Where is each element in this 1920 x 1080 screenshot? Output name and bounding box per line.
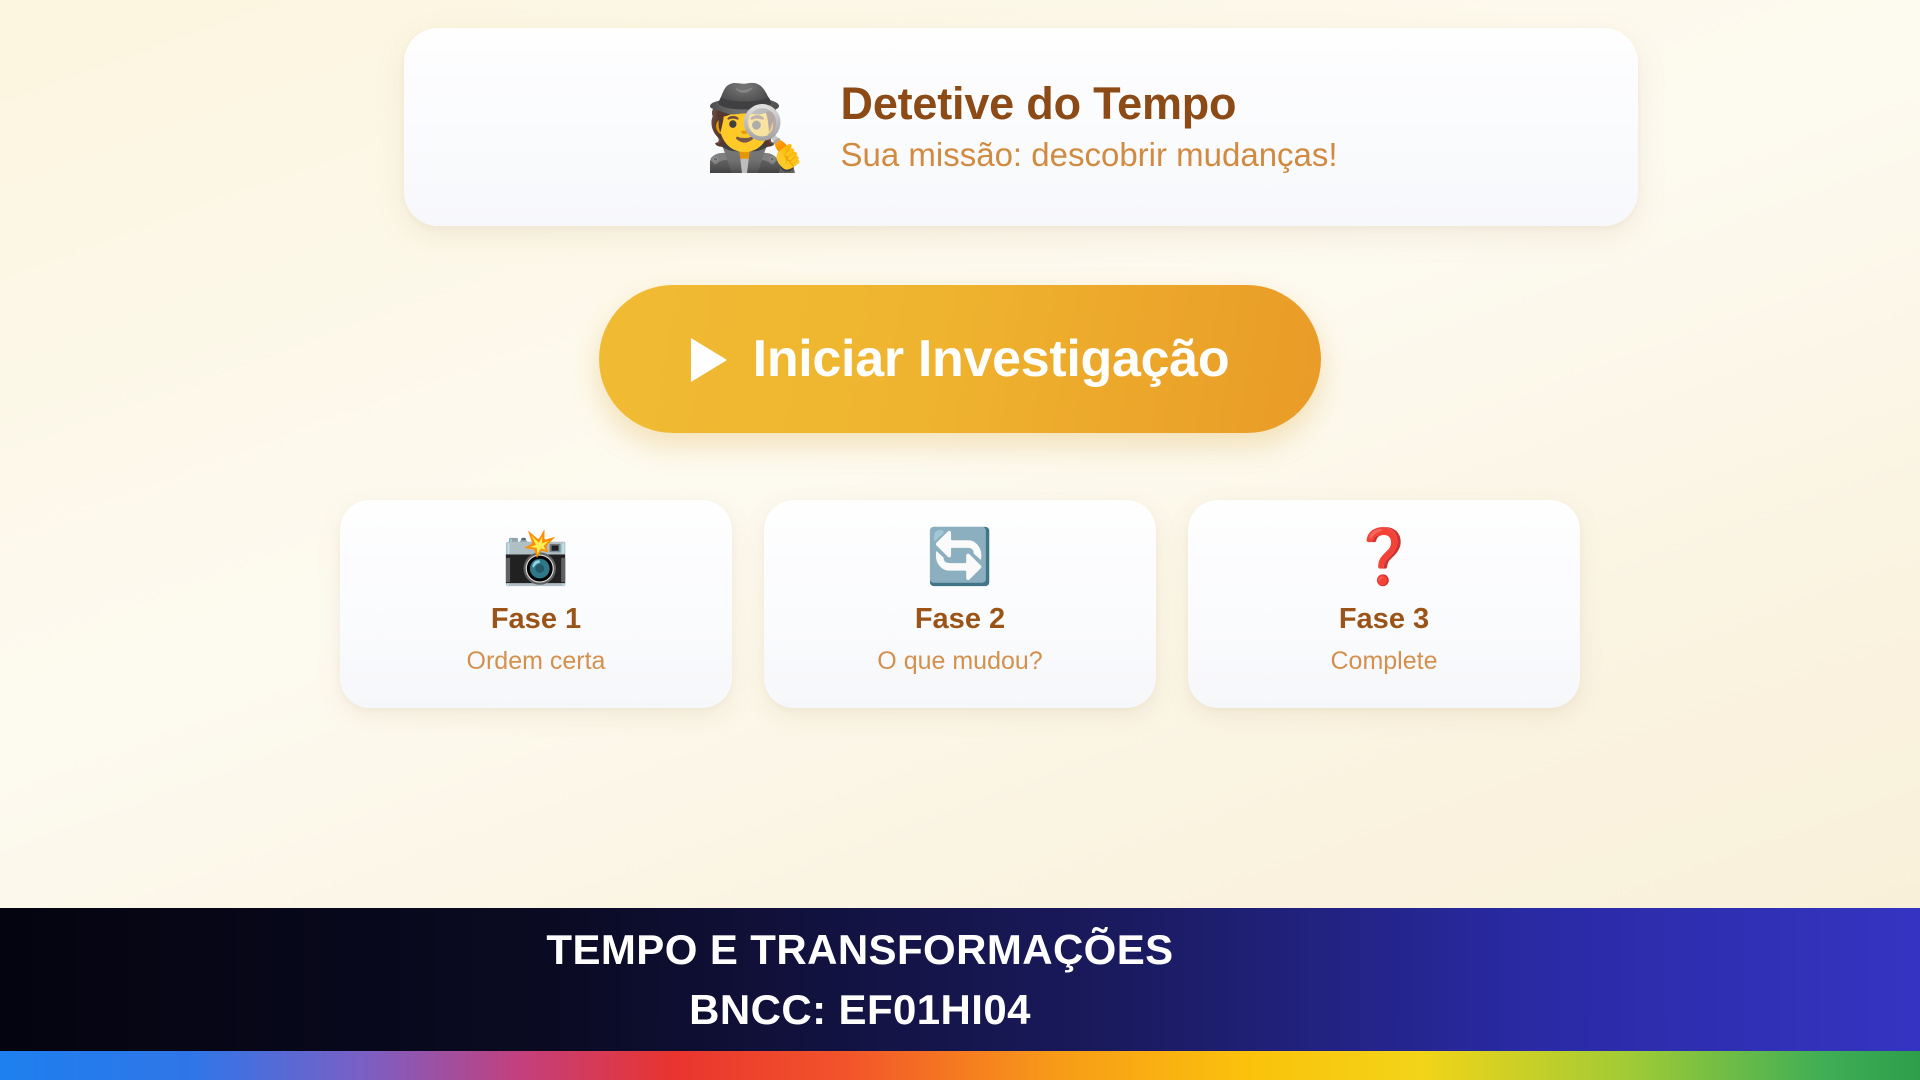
footer-theme-title: TEMPO E TRANSFORMAÇÕES [546, 920, 1173, 980]
phase-3-title: Fase 3 [1339, 602, 1429, 637]
footer-bncc-code: BNCC: EF01HI04 [689, 980, 1031, 1040]
rainbow-accent-strip [0, 1051, 1920, 1080]
phase-1-subtitle: Ordem certa [467, 645, 606, 678]
page-subtitle: Sua missão: descobrir mudanças! [841, 137, 1338, 173]
start-investigation-button[interactable]: Iniciar Investigação [599, 285, 1321, 433]
footer-banner: TEMPO E TRANSFORMAÇÕES BNCC: EF01HI04 [0, 908, 1920, 1051]
phase-card-row: 📸 Fase 1 Ordem certa 🔄 Fase 2 O que mudo… [0, 500, 1920, 708]
activity-stage: 🕵️ Detetive do Tempo Sua missão: descobr… [0, 0, 1920, 908]
refresh-sync-icon: 🔄 [926, 530, 993, 584]
phase-2-subtitle: O que mudou? [877, 645, 1042, 678]
header-text-block: Detetive do Tempo Sua missão: descobrir … [841, 80, 1338, 174]
play-icon [691, 338, 727, 382]
phase-card-1[interactable]: 📸 Fase 1 Ordem certa [340, 500, 732, 708]
detective-emoji: 🕵️ [704, 88, 806, 170]
phase-2-title: Fase 2 [915, 602, 1005, 637]
phase-card-2[interactable]: 🔄 Fase 2 O que mudou? [764, 500, 1156, 708]
header-card: 🕵️ Detetive do Tempo Sua missão: descobr… [404, 28, 1638, 226]
cta-row: Iniciar Investigação [0, 285, 1920, 433]
phase-3-subtitle: Complete [1331, 645, 1438, 678]
camera-with-flash-icon: 📸 [502, 530, 569, 584]
phase-1-title: Fase 1 [491, 602, 581, 637]
page-title: Detetive do Tempo [841, 80, 1338, 127]
phase-card-3[interactable]: ❓ Fase 3 Complete [1188, 500, 1580, 708]
start-investigation-label: Iniciar Investigação [753, 329, 1230, 389]
question-mark-icon: ❓ [1350, 530, 1417, 584]
